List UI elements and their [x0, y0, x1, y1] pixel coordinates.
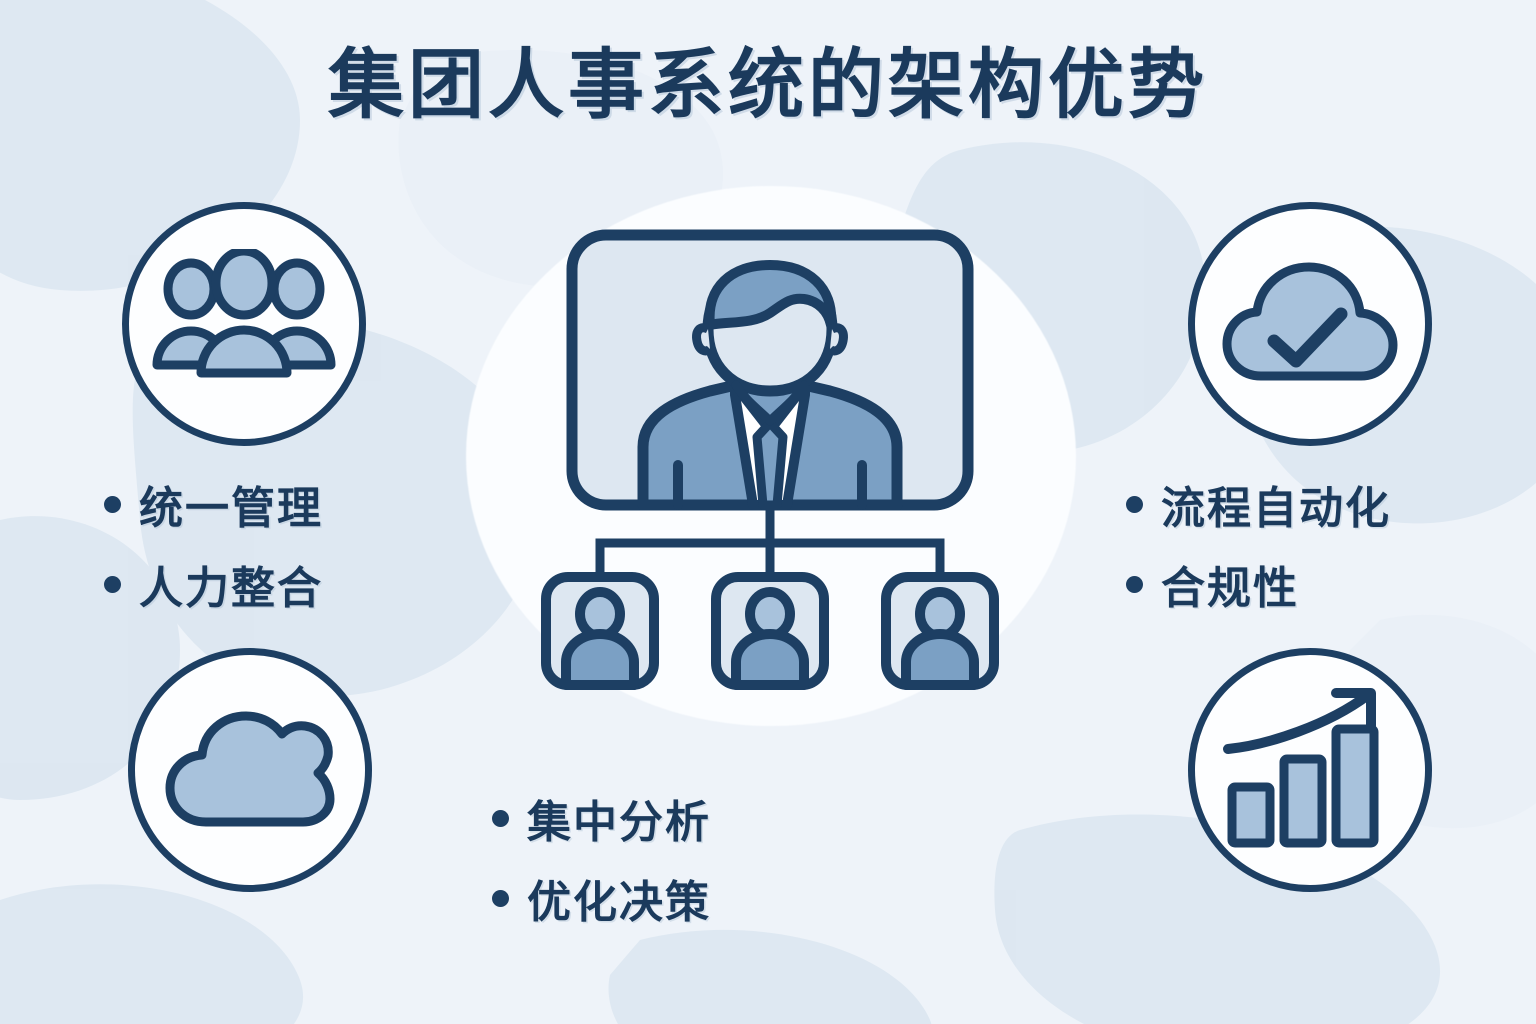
bullet-item: 统一管理	[104, 472, 323, 536]
bullet-label: 统一管理	[139, 472, 323, 536]
badge-people-group	[122, 202, 366, 446]
bullet-item: 人力整合	[104, 552, 323, 616]
bullet-group-right: 流程自动化 合规性	[1126, 472, 1391, 632]
bullet-label: 集中分析	[527, 786, 711, 850]
employee-avatar-icon	[546, 577, 654, 685]
infographic-canvas: 集团人事系统的架构优势	[0, 0, 1536, 1024]
bullet-item: 集中分析	[492, 786, 711, 850]
badge-cloud-check	[1188, 202, 1432, 446]
cloud-check-icon	[1217, 254, 1403, 394]
bullet-label: 流程自动化	[1161, 472, 1391, 536]
bullet-label: 人力整合	[139, 552, 323, 616]
page-title: 集团人事系统的架构优势	[0, 46, 1536, 126]
bullet-item: 流程自动化	[1126, 472, 1391, 536]
bullet-dot-icon	[492, 890, 509, 907]
bullet-dot-icon	[1126, 496, 1143, 513]
bullet-label: 优化决策	[527, 866, 711, 930]
bullet-group-left: 统一管理 人力整合	[104, 472, 323, 632]
badge-growth-chart	[1188, 648, 1432, 892]
growth-chart-icon	[1220, 683, 1400, 858]
bullet-group-bottom: 集中分析 优化决策	[492, 786, 711, 946]
bullet-dot-icon	[492, 810, 509, 827]
bullet-dot-icon	[1126, 576, 1143, 593]
people-group-icon	[149, 249, 339, 399]
bullet-label: 合规性	[1161, 552, 1299, 616]
bullet-item: 优化决策	[492, 866, 711, 930]
bullet-dot-icon	[104, 576, 121, 593]
bullet-dot-icon	[104, 496, 121, 513]
employee-avatar-icon	[716, 577, 824, 685]
employee-avatar-icon	[886, 577, 994, 685]
badge-cloud	[128, 648, 372, 892]
org-hierarchy-icon	[540, 225, 1000, 695]
cloud-icon	[160, 700, 340, 840]
bullet-item: 合规性	[1126, 552, 1391, 616]
manager-portrait-icon	[572, 235, 968, 505]
